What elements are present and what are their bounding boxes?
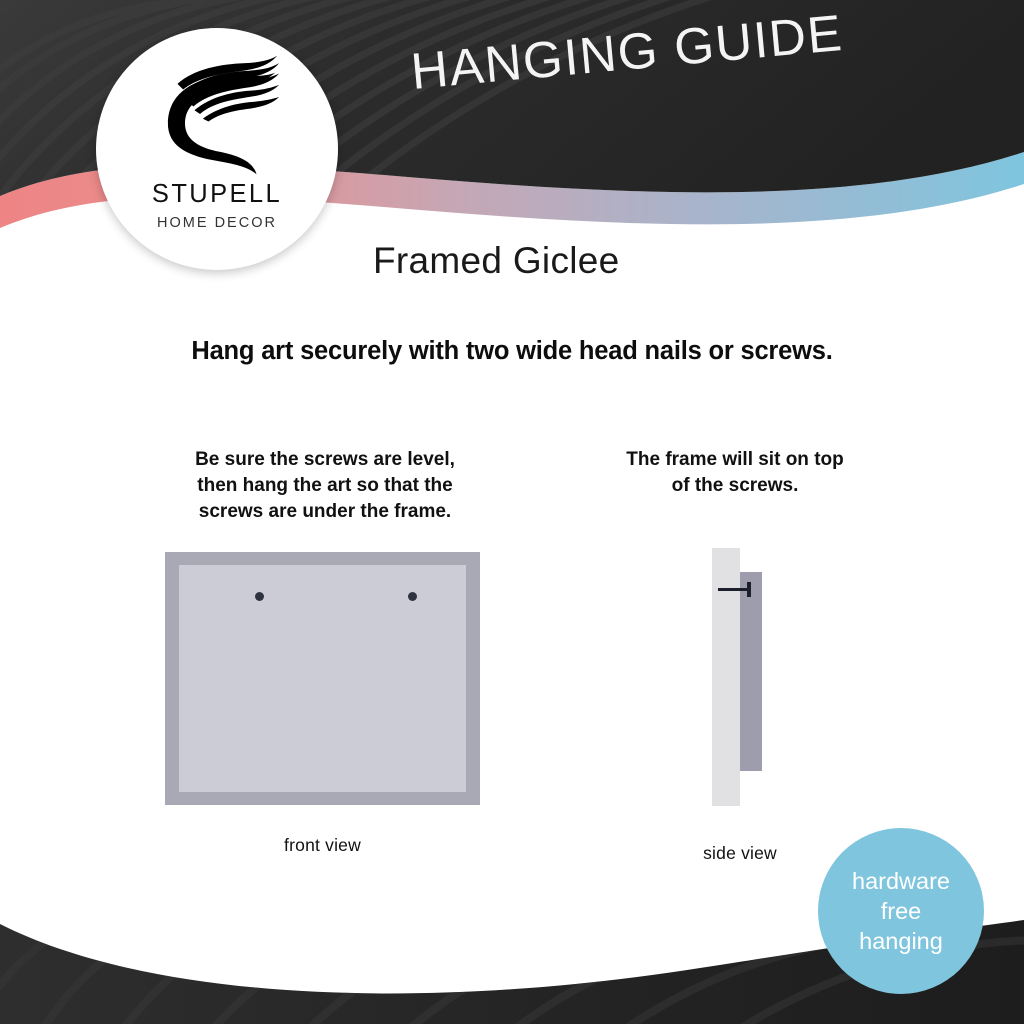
side-view-caption-line-1: The frame will sit on top <box>590 447 880 473</box>
side-view-wall <box>712 548 740 806</box>
front-view-caption-line-3: screws are under the frame. <box>155 499 495 525</box>
instruction-tagline: Hang art securely with two wide head nai… <box>0 337 1024 366</box>
page-title: HANGING GUIDE <box>365 0 888 105</box>
front-view-label: front view <box>165 835 480 856</box>
badge-line-3: hanging <box>859 926 943 956</box>
side-view-frame <box>740 572 762 771</box>
side-view-caption-line-2: of the screws. <box>590 473 880 499</box>
front-view-artwork-area <box>179 565 466 792</box>
front-view-caption-line-1: Be sure the screws are level, <box>155 447 495 473</box>
screw-dot-left <box>255 592 264 601</box>
hanging-guide-page: HANGING GUIDE STUPELL HOME DECOR Framed … <box>0 0 1024 1024</box>
side-view-caption: The frame will sit on top of the screws. <box>590 447 880 499</box>
hardware-free-badge: hardware free hanging <box>818 828 984 994</box>
stupell-swirl-logo-icon <box>151 50 283 178</box>
brand-logo-badge: STUPELL HOME DECOR <box>96 28 338 270</box>
badge-line-2: free <box>881 896 922 926</box>
front-view-frame-diagram <box>165 552 480 805</box>
product-type-heading: Framed Giclee <box>373 240 620 282</box>
front-view-caption: Be sure the screws are level, then hang … <box>155 447 495 525</box>
brand-tagline: HOME DECOR <box>157 215 277 231</box>
brand-name: STUPELL <box>152 182 282 208</box>
front-view-caption-line-2: then hang the art so that the <box>155 473 495 499</box>
side-view-label: side view <box>650 843 830 864</box>
badge-line-1: hardware <box>852 866 950 896</box>
nail-head-icon <box>747 582 751 597</box>
screw-dot-right <box>408 592 417 601</box>
